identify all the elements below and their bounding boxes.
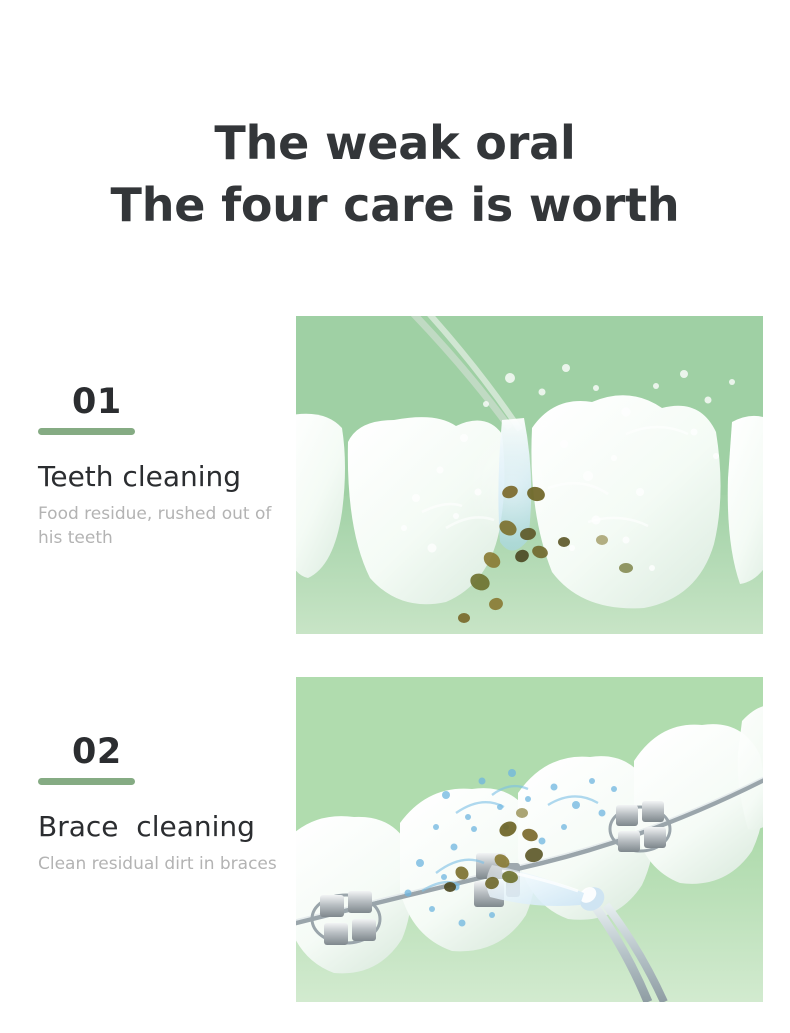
feature-text-01: 01 Teeth cleaning Food residue, rushed o… [38, 382, 288, 550]
feature-accent-rule-01 [38, 428, 135, 435]
teeth-cleaning-illustration [296, 316, 763, 634]
feature-block-02: 02 Brace cleaning Clean residual dirt in… [0, 677, 790, 1002]
feature-number-02: 02 [38, 732, 288, 772]
feature-block-01: 01 Teeth cleaning Food residue, rushed o… [0, 316, 790, 634]
page-title: The weak oral The four care is worth [0, 112, 790, 236]
page-title-line-1: The weak oral [0, 112, 790, 174]
feature-title-02: Brace cleaning [38, 810, 288, 844]
feature-title-01: Teeth cleaning [38, 460, 288, 494]
feature-text-02: 02 Brace cleaning Clean residual dirt in… [38, 732, 288, 876]
page-title-line-2: The four care is worth [0, 174, 790, 236]
feature-description-02: Clean residual dirt in braces [38, 852, 278, 876]
feature-number-01: 01 [38, 382, 288, 422]
brace-cleaning-image [296, 677, 763, 1002]
teeth-cleaning-image [296, 316, 763, 634]
feature-accent-rule-02 [38, 778, 135, 785]
feature-description-01: Food residue, rushed out of his teeth [38, 502, 278, 550]
brace-cleaning-illustration [296, 677, 763, 1002]
